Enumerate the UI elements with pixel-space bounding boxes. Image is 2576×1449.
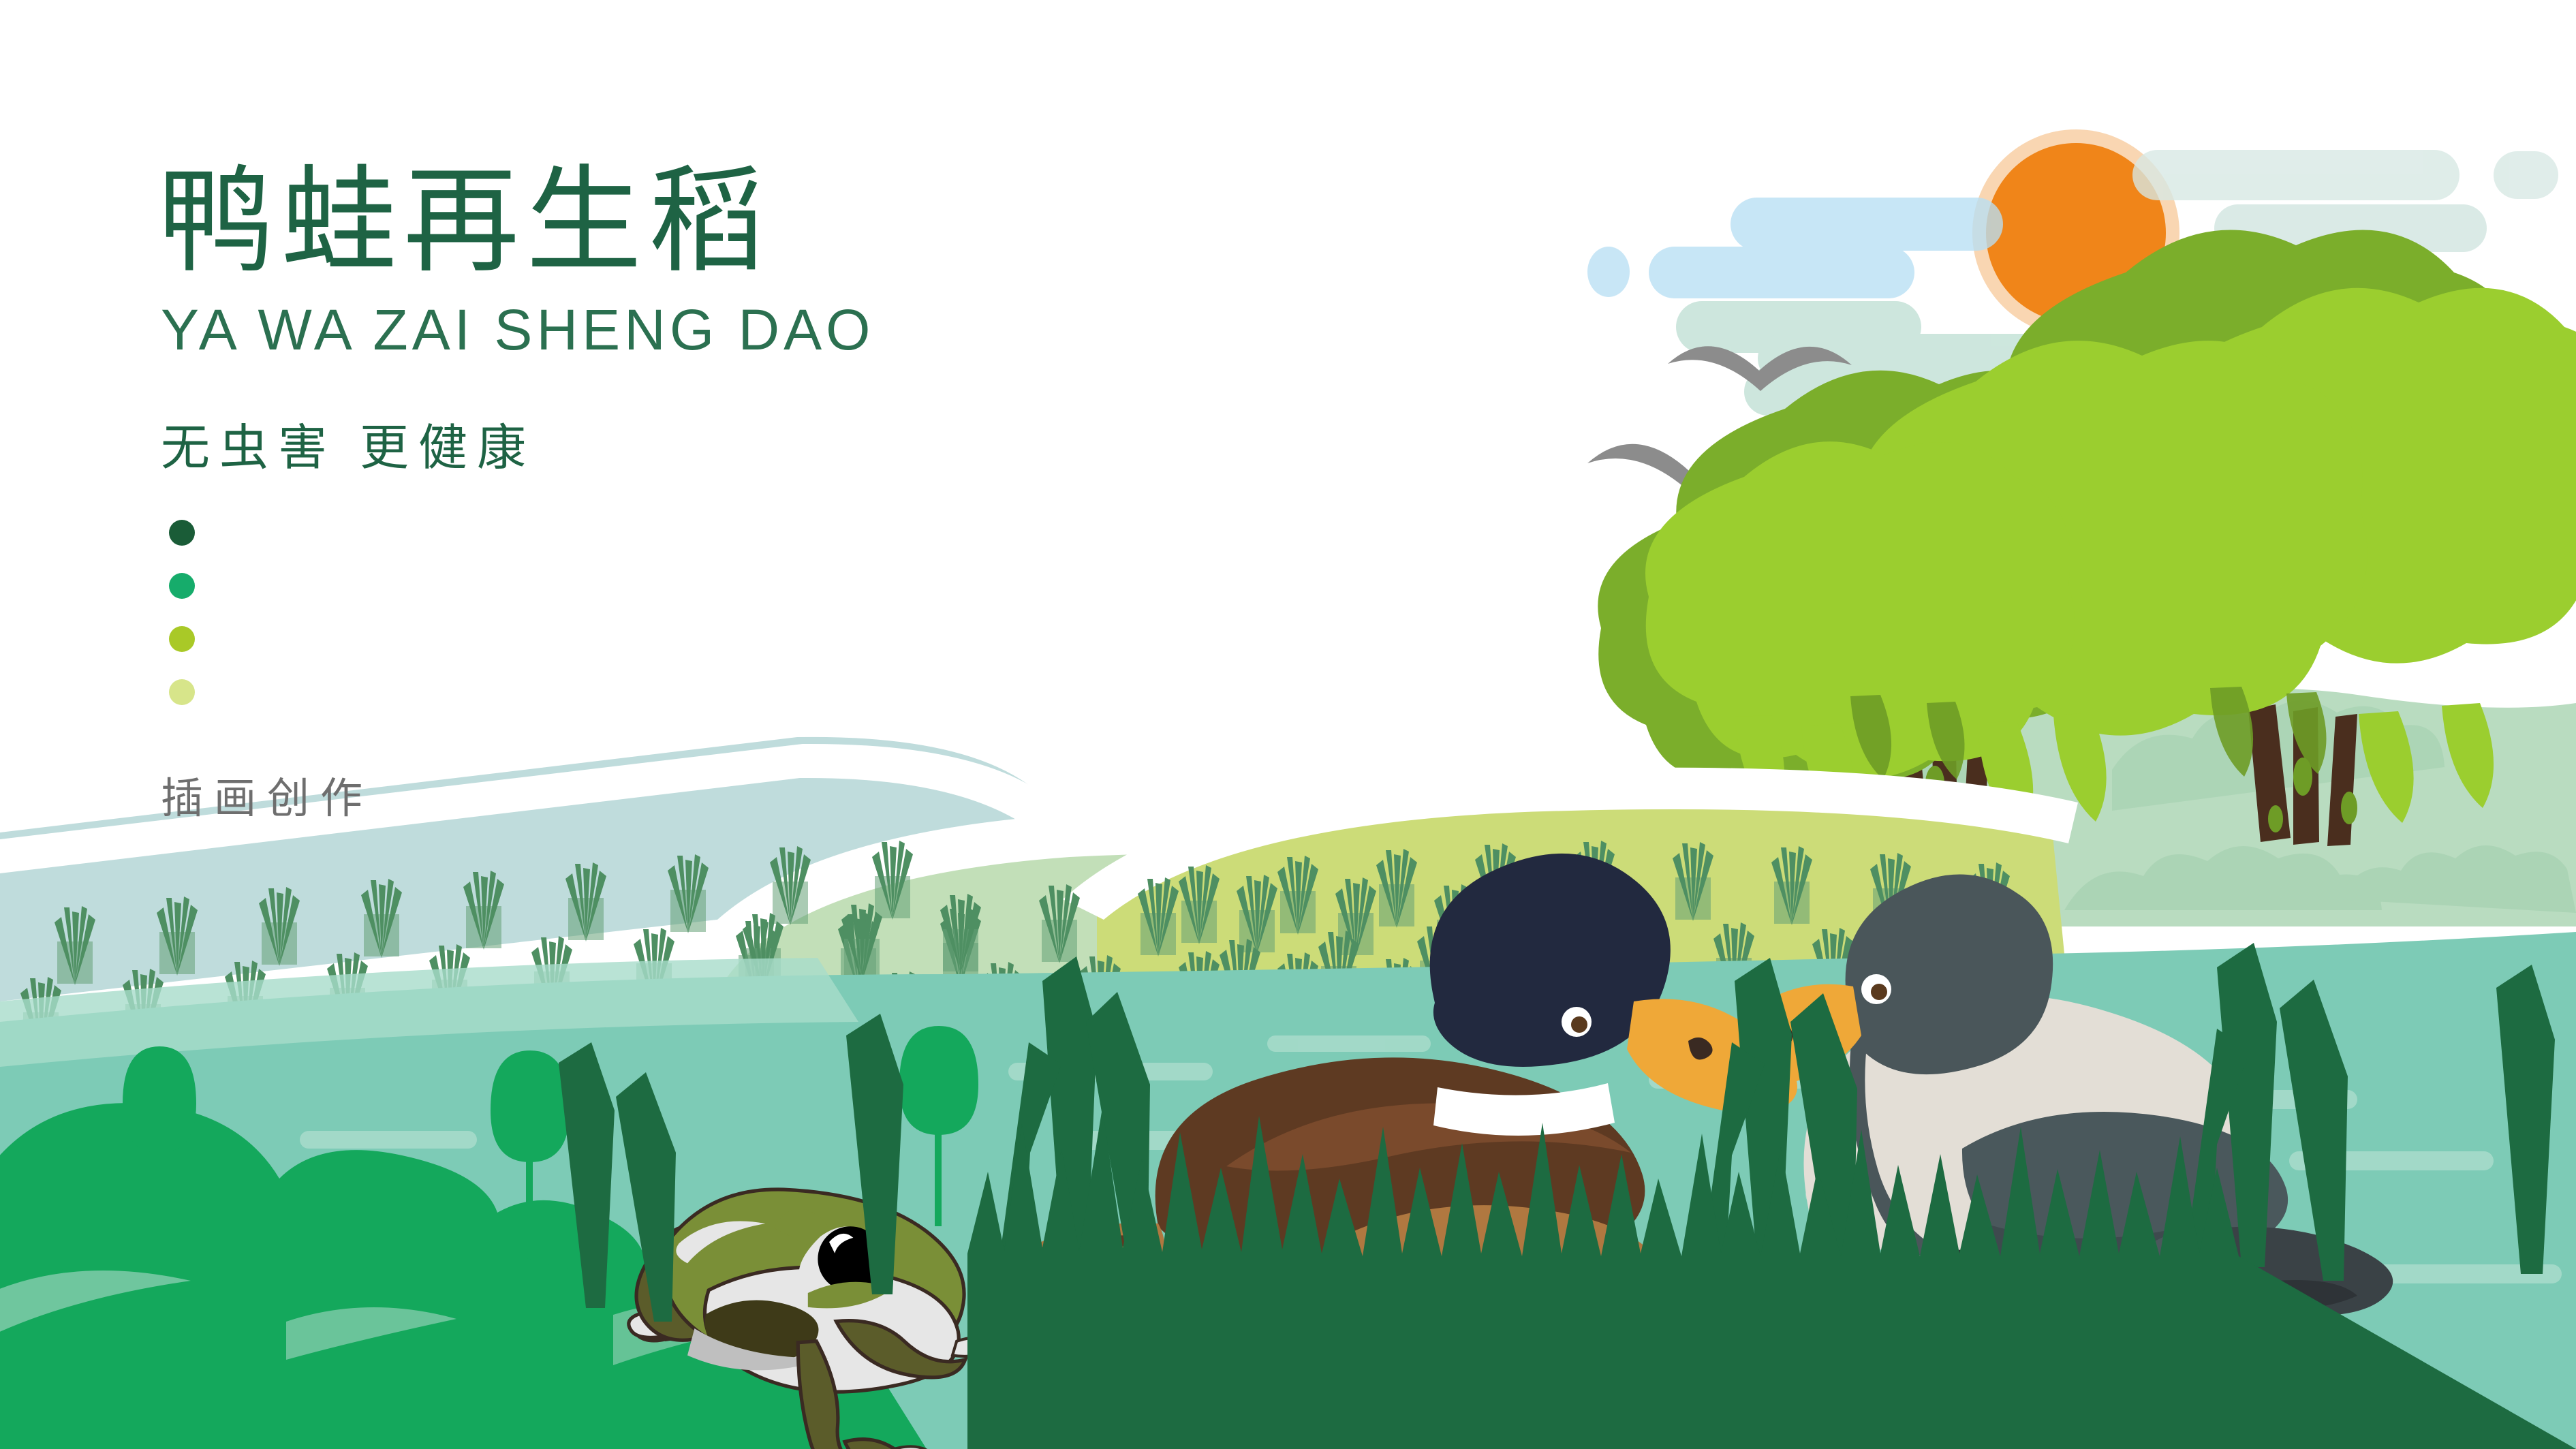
- dot-lime: [169, 626, 195, 652]
- title-pinyin: YA WA ZAI SHENG DAO: [161, 294, 875, 366]
- page-title: 鸭蛙再生稻: [158, 163, 875, 279]
- color-swatch-list: [169, 520, 875, 705]
- dot-emerald: [169, 573, 195, 599]
- headline-block: 鸭蛙再生稻 YA WA ZAI SHENG DAO 无虫害 更健康 插画创作: [158, 163, 875, 825]
- dot-pale-lime: [169, 679, 195, 705]
- poster-canvas: 鸭蛙再生稻 YA WA ZAI SHENG DAO 无虫害 更健康 插画创作: [0, 0, 2576, 1449]
- credit-label: 插画创作: [161, 764, 875, 825]
- subtitle: 无虫害 更健康: [161, 419, 875, 478]
- dot-dark-green: [169, 520, 195, 546]
